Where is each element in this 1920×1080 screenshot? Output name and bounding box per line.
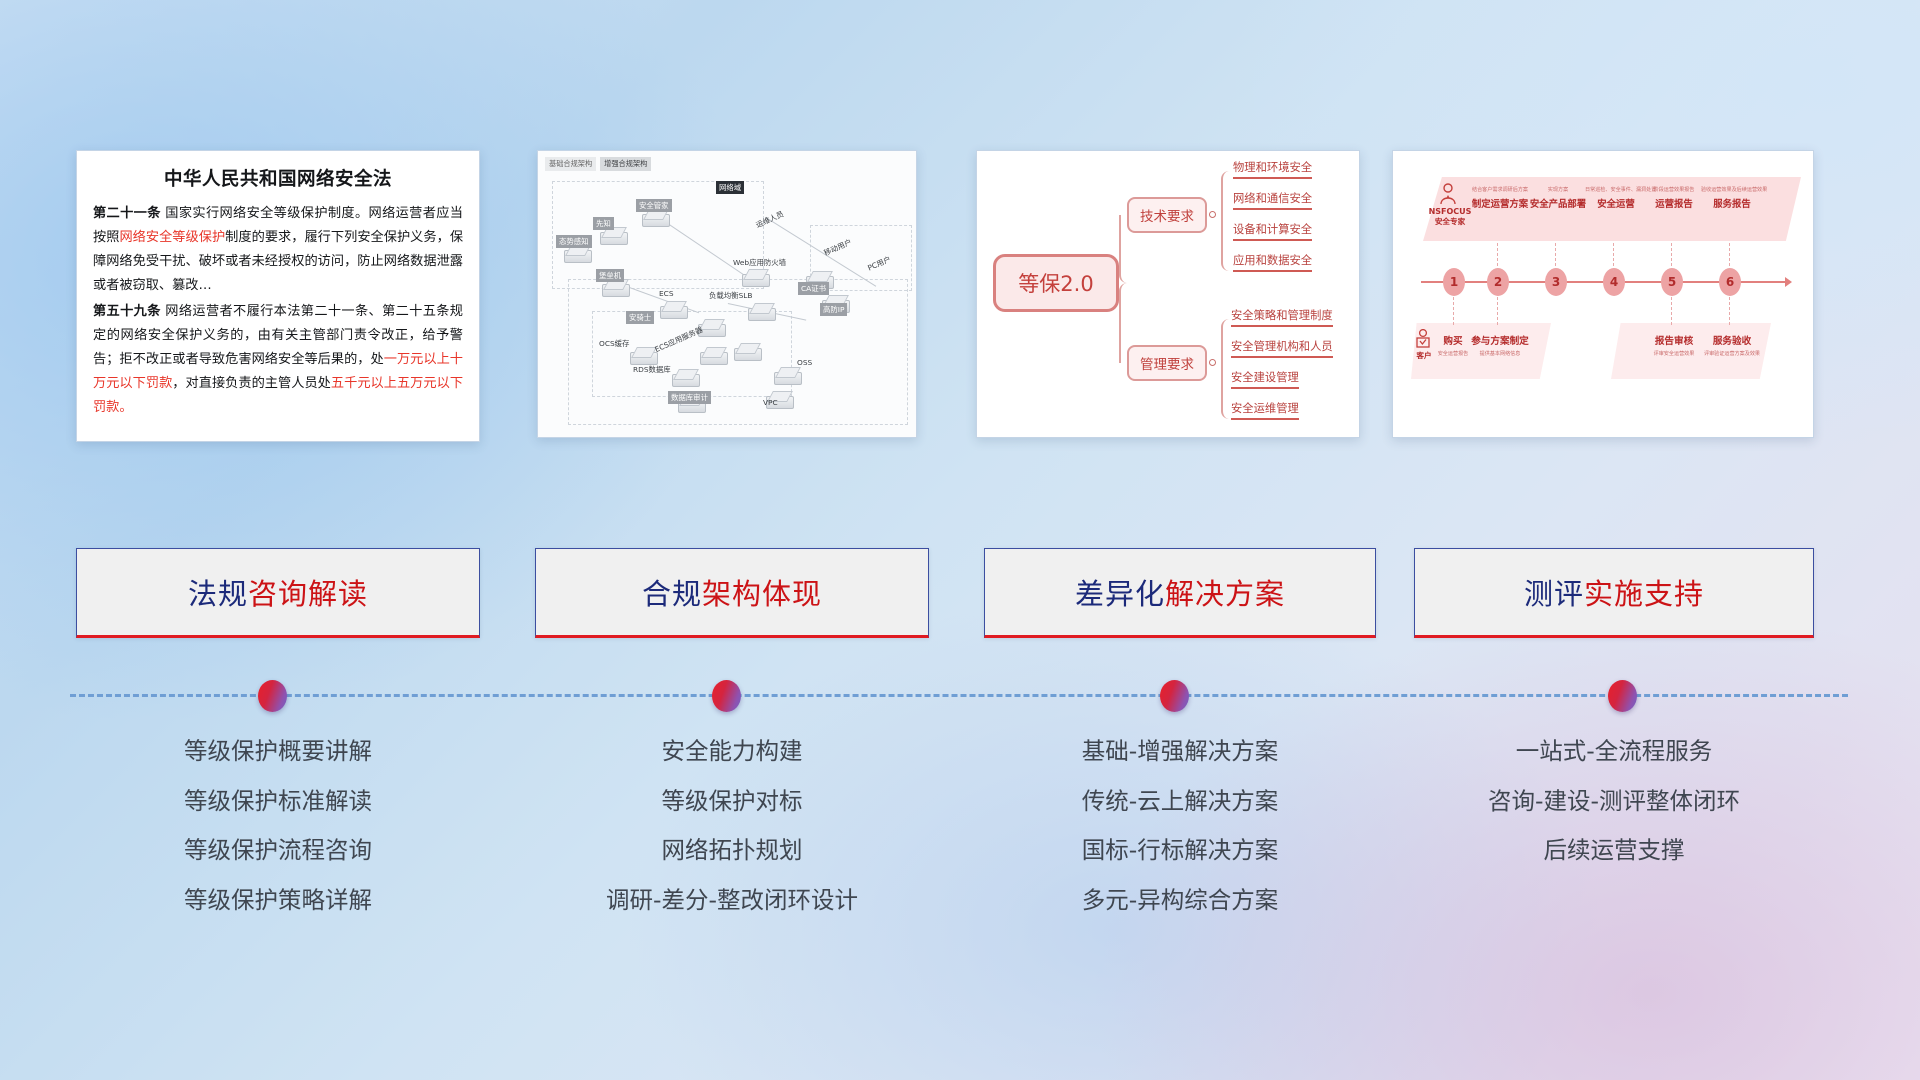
arch-node-rds-database: RDS数据库 xyxy=(630,363,674,376)
list-item: 等级保护流程咨询 xyxy=(76,839,480,863)
list-item: 多元-异构综合方案 xyxy=(984,889,1376,913)
service-cube-icon xyxy=(672,369,698,387)
mindmap-leaf: 网络和通信安全 xyxy=(1233,190,1312,210)
banner-regulation-consulting[interactable]: 法规咨询解读 xyxy=(76,548,480,638)
mindmap-branch-technical: 技术要求 xyxy=(1127,197,1207,233)
list-item: 等级保护概要讲解 xyxy=(76,740,480,764)
roadmap-stage-top-5: 验收运营效果及后续运营效果 服务报告 xyxy=(1701,187,1763,210)
banner-label: 测评实施支持 xyxy=(1524,571,1704,613)
list-item: 安全能力构建 xyxy=(535,740,929,764)
arch-node-xianzhi: 先知 xyxy=(593,217,614,230)
roadmap-diagram: NSFOCUS 安全专家 客户 1 2 3 4 5 6 xyxy=(1393,151,1813,437)
preview-cards-row: 中华人民共和国网络安全法 第二十一条 国家实行网络安全等级保护制度。网络运营者应… xyxy=(0,150,1920,450)
roadmap-leader-line xyxy=(1613,243,1614,271)
mindmap-leaf: 安全策略和管理制度 xyxy=(1231,307,1333,327)
timeline-dashed-line xyxy=(70,694,1848,697)
mindmap-collapse-dot[interactable] xyxy=(1209,359,1216,366)
list-item: 咨询-建设-测评整体闭环 xyxy=(1414,790,1814,814)
roadmap-stage-top-1: 结合客户需求调研后方案 制定运营方案 xyxy=(1469,187,1531,210)
law-paragraph: 第二十一条 国家实行网络安全等级保护制度。网络运营者应当按照网络安全等级保护制度… xyxy=(93,202,463,298)
mindmap-leaf: 物理和环境安全 xyxy=(1233,159,1312,179)
timeline-dot-3[interactable] xyxy=(1160,680,1189,712)
mindmap-collapse-dot[interactable] xyxy=(1209,211,1216,218)
mindmap-connector xyxy=(1119,215,1127,283)
roadmap-node-6[interactable]: 6 xyxy=(1719,268,1741,296)
roadmap-leader-line xyxy=(1729,243,1730,271)
arch-node-bastion-host: 堡垒机 xyxy=(596,269,624,282)
roadmap-leader-line xyxy=(1497,297,1498,325)
arch-node-anti-ddos-ip: 高防IP xyxy=(820,303,847,316)
feature-list-solution: 基础-增强解决方案 传统-云上解决方案 国标-行标解决方案 多元-异构综合方案 xyxy=(984,740,1376,938)
law-article-number: 第五十九条 xyxy=(93,304,161,319)
service-cube-icon xyxy=(700,347,726,365)
law-paragraph: 第五十九条 网络运营者不履行本法第二十一条、第二十五条规定的网络安全保护义务的，… xyxy=(93,300,463,420)
law-document-title: 中华人民共和国网络安全法 xyxy=(93,165,463,191)
timeline-dot-2[interactable] xyxy=(712,680,741,712)
feature-list-regulation: 等级保护概要讲解 等级保护标准解读 等级保护流程咨询 等级保护策略详解 xyxy=(76,740,480,938)
feature-list-architecture: 安全能力构建 等级保护对标 网络拓扑规划 调研-差分-整改闭环设计 xyxy=(535,740,929,938)
roadmap-stage-top-4: 阶段运营效果报告 运营报告 xyxy=(1643,187,1705,210)
law-article-number: 第二十一条 xyxy=(93,206,161,221)
mindmap-root-node: 等保2.0 xyxy=(993,254,1119,312)
banner-evaluation-support[interactable]: 测评实施支持 xyxy=(1414,548,1814,638)
roadmap-stage-bottom-4: 服务验收 评审验证运营方案及效果 xyxy=(1701,333,1763,357)
roadmap-node-1[interactable]: 1 xyxy=(1443,268,1465,296)
arch-node-vpc: VPC xyxy=(760,397,781,408)
banner-label: 合规架构体现 xyxy=(642,571,822,613)
roadmap-node-2[interactable]: 2 xyxy=(1487,268,1509,296)
mindmap-connector xyxy=(1119,283,1127,363)
architecture-tab-group[interactable]: 基础合规架构 增强合规架构 xyxy=(545,157,651,171)
arch-node-situational-awareness: 态势感知 xyxy=(556,235,592,248)
arch-node-slb: 负载均衡SLB xyxy=(706,289,755,302)
roadmap-stage-bottom-3: 报告审核 评审安全运营效果 xyxy=(1643,333,1705,357)
card-law-document[interactable]: 中华人民共和国网络安全法 第二十一条 国家实行网络安全等级保护制度。网络运营者应… xyxy=(76,150,480,442)
cloud-architecture-diagram: 基础合规架构 增强合规架构 xyxy=(538,151,916,437)
roadmap-leader-line xyxy=(1671,243,1672,271)
feature-list-evaluation: 一站式-全流程服务 咨询-建设-测评整体闭环 后续运营支撑 xyxy=(1414,740,1814,889)
arch-node-waf: Web应用防火墙 xyxy=(730,256,789,269)
roadmap-node-5[interactable]: 5 xyxy=(1661,268,1683,296)
card-nsfocus-roadmap[interactable]: NSFOCUS 安全专家 客户 1 2 3 4 5 6 xyxy=(1392,150,1814,438)
service-cube-icon xyxy=(734,343,760,361)
card-mind-map[interactable]: 等保2.0 技术要求 管理要求 物理和环境安全 网络和通信安全 设备和计算安全 … xyxy=(976,150,1360,438)
roadmap-stage-top-2: 实现方案 安全产品部署 xyxy=(1527,187,1589,210)
law-text-highlight: 网络安全等级保护 xyxy=(119,230,225,245)
timeline-dot-4[interactable] xyxy=(1608,680,1637,712)
roadmap-leader-line xyxy=(1453,297,1454,325)
mindmap-connector xyxy=(1221,215,1229,271)
list-item: 等级保护对标 xyxy=(535,790,929,814)
arch-node-oss: OSS xyxy=(794,357,815,368)
mindmap-connector xyxy=(1221,319,1229,363)
list-item: 基础-增强解决方案 xyxy=(984,740,1376,764)
roadmap-stage-bottom-2: 参与方案制定 提供基本网络信息 xyxy=(1469,333,1531,357)
mindmap-leaf: 设备和计算安全 xyxy=(1233,221,1312,241)
list-item: 等级保护标准解读 xyxy=(76,790,480,814)
law-document-body: 中华人民共和国网络安全法 第二十一条 国家实行网络安全等级保护制度。网络运营者应… xyxy=(77,151,479,441)
roadmap-leader-line xyxy=(1729,297,1730,325)
arch-node-anqishi: 安骑士 xyxy=(626,311,654,324)
roadmap-arrow-icon xyxy=(1785,277,1792,287)
tab-basic-architecture[interactable]: 基础合规架构 xyxy=(545,157,596,171)
mindmap-connector xyxy=(1221,171,1229,215)
arch-node-ocs-cache: OCS缓存 xyxy=(596,337,632,350)
arch-node-network-zone: 网络域 xyxy=(716,181,744,194)
roadmap-actor-expert: NSFOCUS 安全专家 xyxy=(1427,207,1473,226)
arch-node-ecs: ECS xyxy=(656,288,677,299)
mindmap-leaf: 安全建设管理 xyxy=(1231,369,1299,389)
mindmap-leaf: 安全管理机构和人员 xyxy=(1231,338,1333,358)
banner-label: 法规咨询解读 xyxy=(188,571,368,613)
tab-enhanced-architecture[interactable]: 增强合规架构 xyxy=(600,157,651,171)
list-item: 等级保护策略详解 xyxy=(76,889,480,913)
list-item: 后续运营支撑 xyxy=(1414,839,1814,863)
list-item: 一站式-全流程服务 xyxy=(1414,740,1814,764)
mindmap-branch-management: 管理要求 xyxy=(1127,345,1207,381)
mindmap-leaf: 安全运维管理 xyxy=(1231,400,1299,420)
banner-differentiated-solution[interactable]: 差异化解决方案 xyxy=(984,548,1376,638)
banner-label: 差异化解决方案 xyxy=(1075,571,1285,613)
timeline-dot-1[interactable] xyxy=(258,680,287,712)
roadmap-leader-line xyxy=(1555,243,1556,271)
card-cloud-architecture[interactable]: 基础合规架构 增强合规架构 xyxy=(537,150,917,438)
service-cube-icon xyxy=(742,269,768,287)
arch-node-ca-certificate: CA证书 xyxy=(798,282,829,295)
list-item: 国标-行标解决方案 xyxy=(984,839,1376,863)
list-item: 调研-差分-整改闭环设计 xyxy=(535,889,929,913)
list-item: 网络拓扑规划 xyxy=(535,839,929,863)
mindmap-leaf: 应用和数据安全 xyxy=(1233,252,1312,272)
roadmap-node-3[interactable]: 3 xyxy=(1545,268,1567,296)
expert-person-icon xyxy=(1439,183,1457,205)
list-item: 传统-云上解决方案 xyxy=(984,790,1376,814)
roadmap-leader-line xyxy=(1671,297,1672,325)
arch-node-security-butler: 安全管家 xyxy=(636,199,672,212)
law-text: ，对直接负责的主管人员处 xyxy=(172,376,331,391)
roadmap-leader-line xyxy=(1497,243,1498,271)
service-cube-icon xyxy=(748,303,774,321)
mindmap-connector xyxy=(1221,363,1229,419)
service-cube-icon xyxy=(660,301,686,319)
mindmap-diagram: 等保2.0 技术要求 管理要求 物理和环境安全 网络和通信安全 设备和计算安全 … xyxy=(977,151,1359,437)
roadmap-node-4[interactable]: 4 xyxy=(1603,268,1625,296)
arch-node-db-audit: 数据库审计 xyxy=(668,391,711,404)
banner-compliance-architecture[interactable]: 合规架构体现 xyxy=(535,548,929,638)
service-cube-icon xyxy=(774,367,800,385)
roadmap-stage-top-3: 日常巡检、安全事件、漏洞处置 安全运营 xyxy=(1585,187,1647,210)
